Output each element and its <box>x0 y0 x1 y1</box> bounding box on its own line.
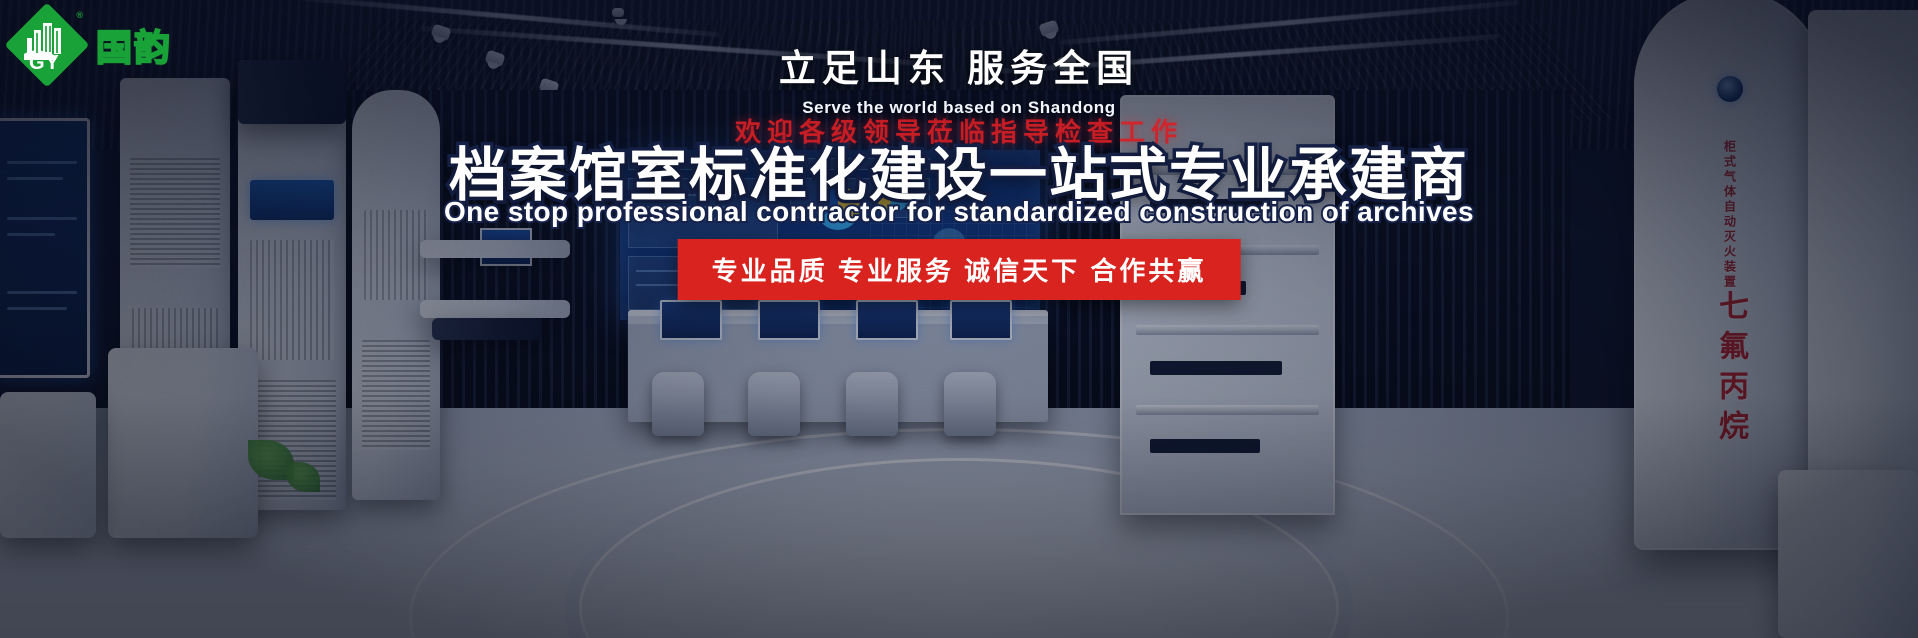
registered-trademark-icon: ® <box>76 10 83 20</box>
hero-content: ® GY 国韵 欢迎各级领导莅临指导检查工作 立足山东 服务全国 Serve t… <box>0 0 1918 638</box>
hero-headline-cn: 立足山东 服务全国 <box>0 38 1918 92</box>
hero-banner: 柜式气体自动灭火装置 七氟丙烷 <box>0 0 1918 638</box>
hero-slogan-banner[interactable]: 专业品质 专业服务 诚信天下 合作共赢 <box>678 239 1241 300</box>
hero-headline-en: Serve the world based on Shandong <box>0 98 1918 118</box>
hero-main-title-en: One stop professional contractor for sta… <box>0 196 1918 228</box>
hero-top-headline-group: 立足山东 服务全国 Serve the world based on Shand… <box>0 38 1918 118</box>
